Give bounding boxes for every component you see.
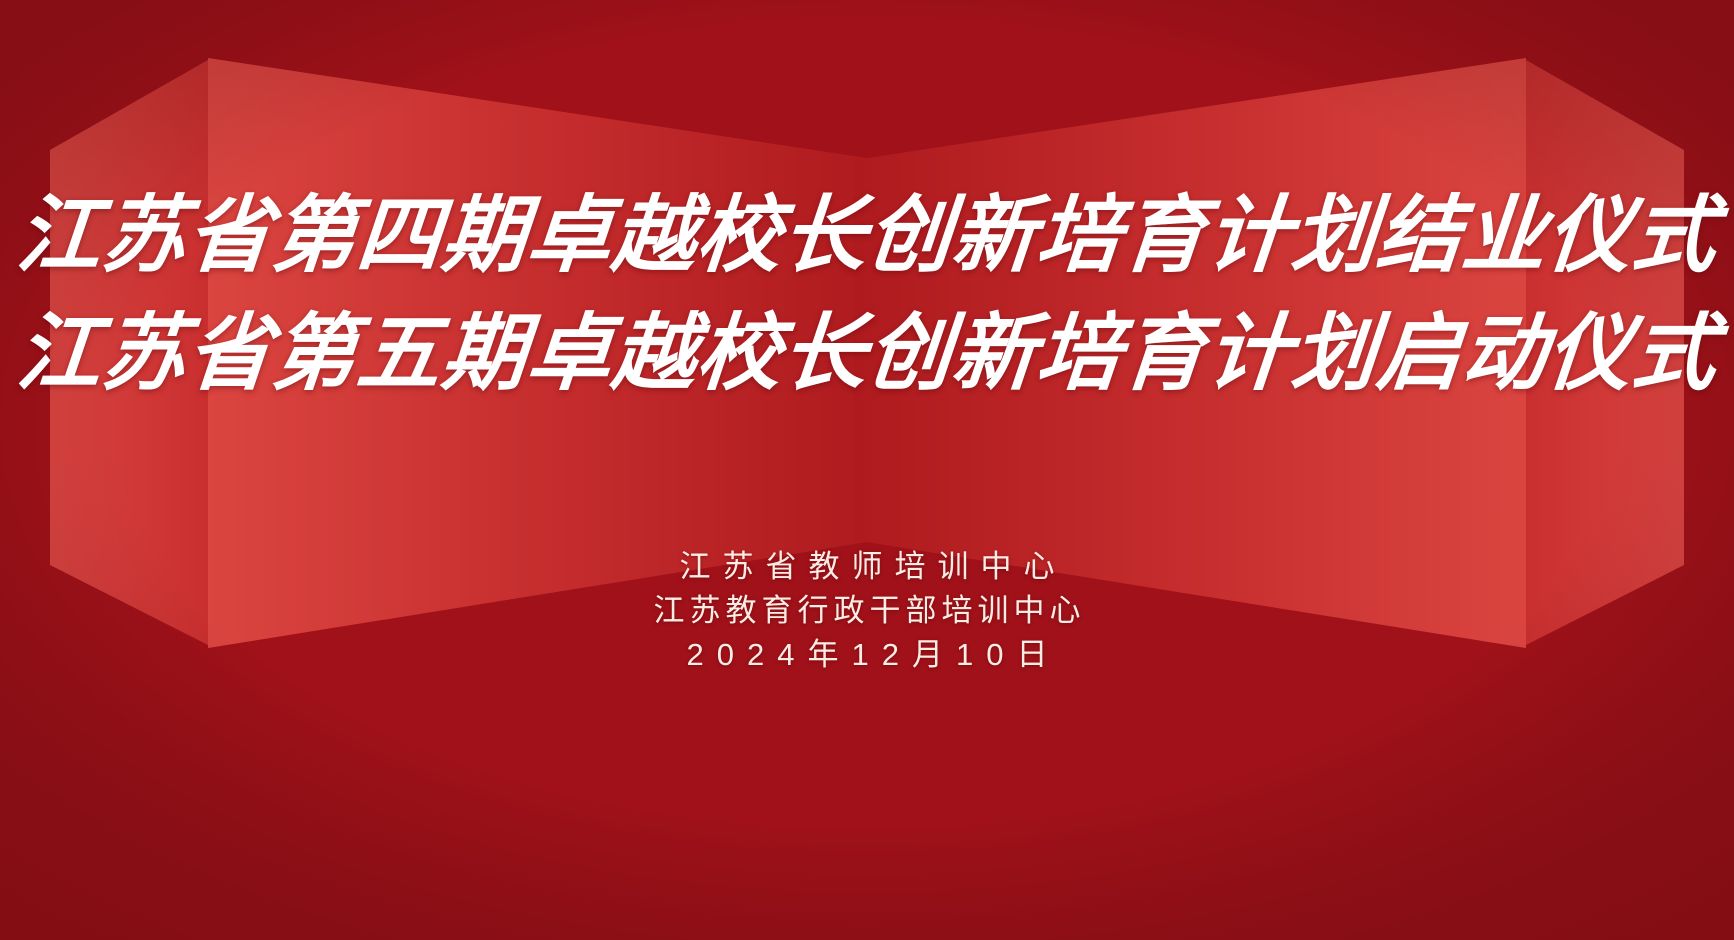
title-block: 江苏省第四期卓越校长创新培育计划结业仪式 江苏省第五期卓越校长创新培育计划启动仪…	[0, 178, 1734, 414]
footer-date: 2024年12月10日	[0, 633, 1734, 677]
presentation-slide: 江苏省第四期卓越校长创新培育计划结业仪式 江苏省第五期卓越校长创新培育计划启动仪…	[0, 0, 1734, 940]
title-line-1: 江苏省第四期卓越校长创新培育计划结业仪式	[0, 178, 1734, 296]
footer-organization-secondary: 江苏教育行政干部培训中心	[0, 589, 1734, 633]
slide-content: 江苏省第四期卓越校长创新培育计划结业仪式 江苏省第五期卓越校长创新培育计划启动仪…	[0, 0, 1734, 940]
title-line-2: 江苏省第五期卓越校长创新培育计划启动仪式	[0, 296, 1734, 414]
footer-organization-primary: 江苏省教师培训中心	[0, 545, 1734, 589]
footer-block: 江苏省教师培训中心 江苏教育行政干部培训中心 2024年12月10日	[0, 545, 1734, 677]
